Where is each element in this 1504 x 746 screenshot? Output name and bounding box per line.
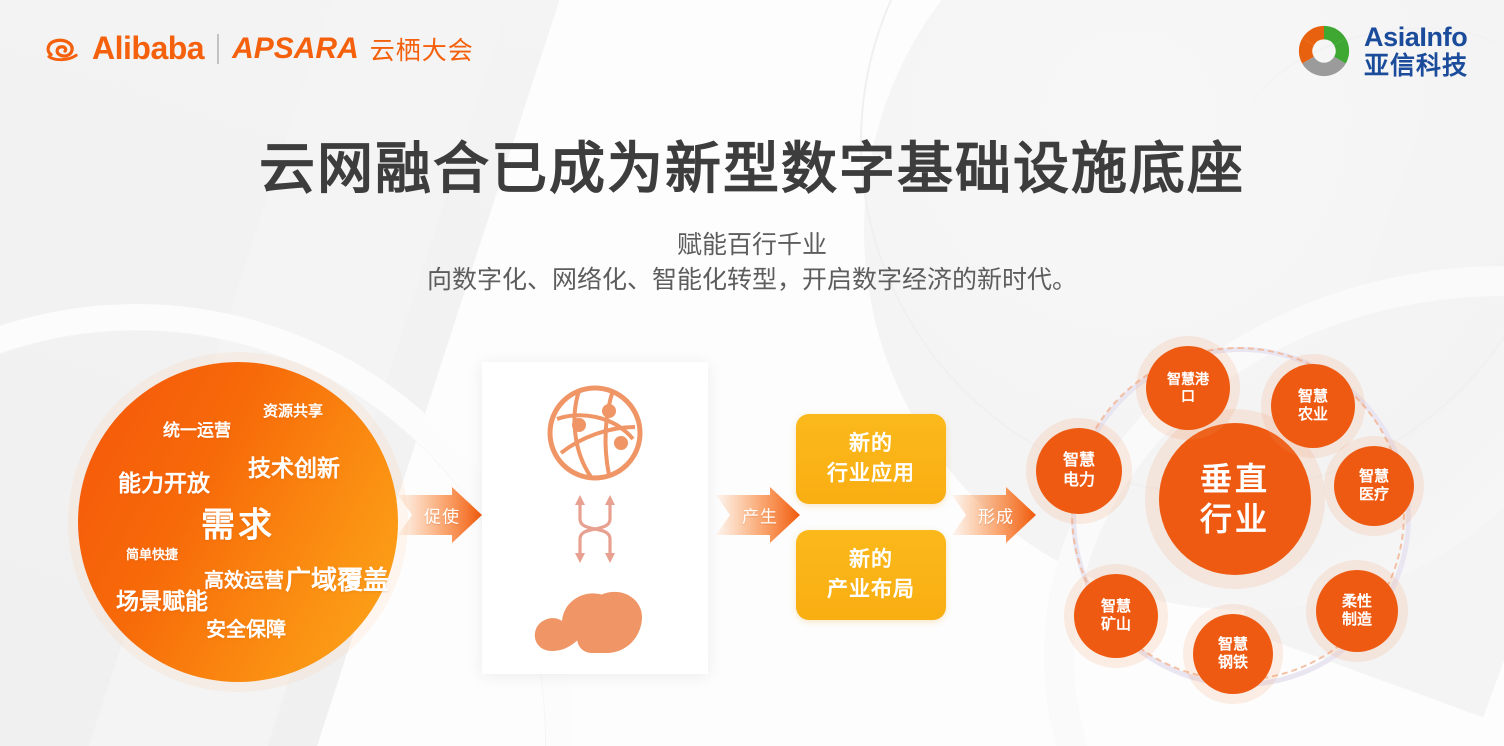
arrow-cuishi: 促使 (398, 487, 482, 543)
cluster-node-line-1: 智慧 (1359, 468, 1389, 486)
demand-keyword: 资源共享 (263, 400, 323, 421)
cluster-center-node: 垂直 行业 (1159, 423, 1311, 575)
cluster-node-line-1: 智慧 (1101, 598, 1131, 616)
demand-keyword: 高效运营 (204, 564, 284, 593)
demand-keyword: 安全保障 (206, 613, 286, 642)
cluster-node-line-2: 钢铁 (1218, 654, 1248, 672)
cluster-node-line-2: 矿山 (1101, 616, 1131, 634)
ybox2-line2: 产业布局 (827, 575, 915, 605)
arrow-cuishi-label: 促使 (424, 503, 460, 528)
cluster-node-line-1: 智慧 (1298, 388, 1328, 406)
ybox1-line1: 新的 (849, 429, 893, 459)
demand-keyword: 广域覆盖 (285, 560, 389, 597)
cluster-node-line-1: 智慧 (1063, 451, 1095, 471)
bidirectional-cross-arrows-icon (564, 493, 626, 565)
demand-keyword: 场景赋能 (116, 582, 208, 616)
demand-keyword: 简单快捷 (126, 544, 178, 563)
ybox2-line1: 新的 (849, 545, 893, 575)
cloud-network-card (482, 362, 708, 674)
slide-canvas: Alibaba APSARA 云栖大会 AsiaInfo 亚信科技 云网融合已成… (0, 0, 1504, 746)
demand-keyword: 技术创新 (248, 449, 340, 483)
diagram-stage: 需求 统一运营资源共享能力开放技术创新简单快捷高效运营广域覆盖场景赋能安全保障 … (0, 0, 1504, 746)
arrow-xingcheng-label: 形成 (978, 503, 1014, 528)
cluster-node: 智慧电力 (1036, 428, 1122, 514)
center-line-1: 垂直 (1200, 459, 1270, 499)
network-globe-icon (543, 381, 647, 485)
cluster-node-line-2: 医疗 (1359, 486, 1389, 504)
ybox1-line2: 行业应用 (827, 459, 915, 489)
new-industry-layout-box: 新的 产业布局 (796, 530, 946, 620)
cluster-node-line-1: 智慧 (1218, 636, 1248, 654)
cluster-node: 智慧钢铁 (1193, 614, 1273, 694)
demand-center-label: 需求 (201, 498, 275, 547)
demand-keyword: 能力开放 (118, 464, 210, 498)
cluster-node: 柔性制造 (1316, 570, 1398, 652)
cluster-node-line-1: 智慧港 (1167, 371, 1209, 388)
cluster-node-line-2: 电力 (1063, 471, 1095, 491)
cluster-node-line-2: 农业 (1298, 406, 1328, 424)
arrow-chansheng: 产生 (716, 487, 800, 543)
vertical-industry-cluster: 垂直 行业 智慧港口智慧农业智慧医疗柔性制造智慧钢铁智慧矿山智慧电力 (1018, 318, 1488, 724)
demand-word-cloud: 需求 统一运营资源共享能力开放技术创新简单快捷高效运营广域覆盖场景赋能安全保障 (78, 362, 398, 682)
cluster-node-line-2: 制造 (1342, 611, 1372, 629)
cluster-node: 智慧矿山 (1074, 574, 1158, 658)
arrow-chansheng-label: 产生 (742, 503, 778, 528)
center-line-2: 行业 (1200, 499, 1270, 539)
cluster-node: 智慧医疗 (1334, 446, 1414, 526)
cluster-node-line-2: 口 (1181, 388, 1195, 405)
cluster-node-line-1: 柔性 (1342, 593, 1372, 611)
new-industry-application-box: 新的 行业应用 (796, 414, 946, 504)
cloud-icon (532, 571, 658, 655)
cluster-node: 智慧农业 (1271, 364, 1355, 448)
demand-keyword: 统一运营 (163, 416, 231, 441)
cluster-node: 智慧港口 (1146, 346, 1230, 430)
demand-sphere: 需求 统一运营资源共享能力开放技术创新简单快捷高效运营广域覆盖场景赋能安全保障 (78, 362, 398, 682)
